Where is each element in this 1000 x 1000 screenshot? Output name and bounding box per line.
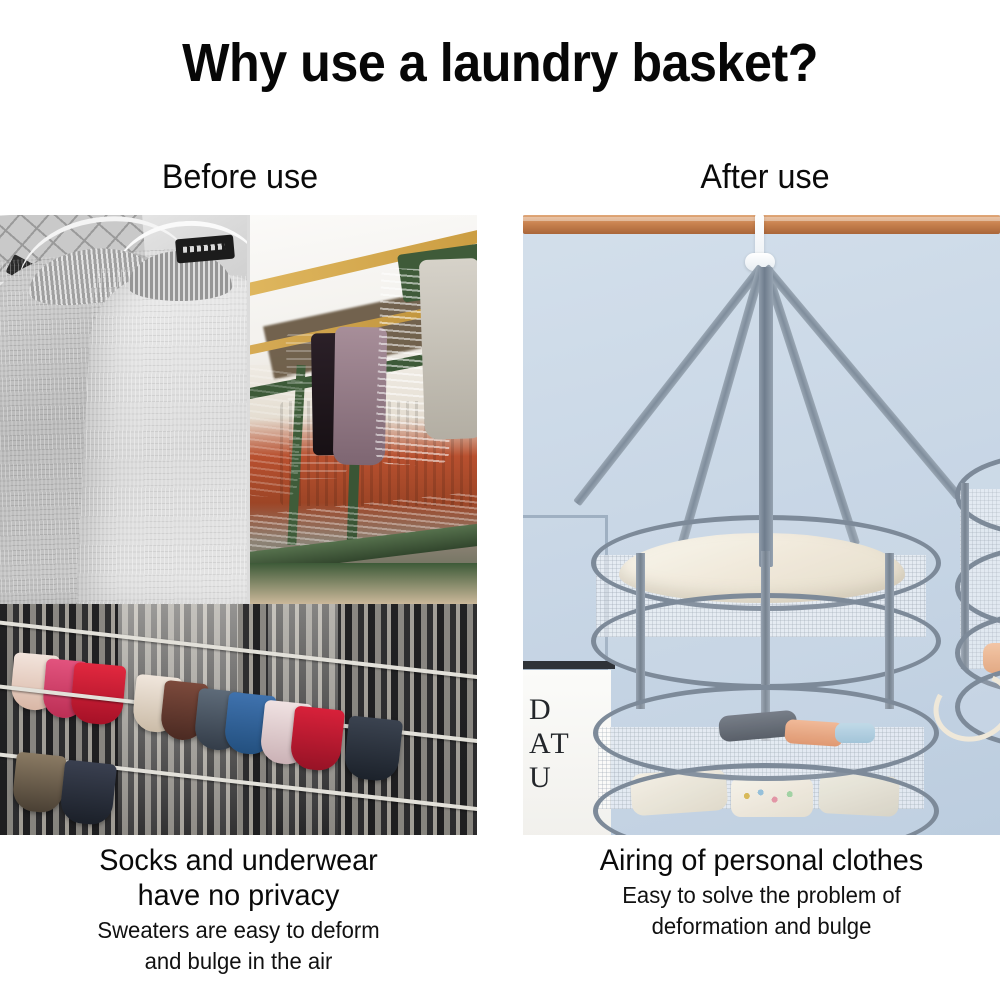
after-caption-sub-line2: deformation and bulge — [533, 912, 991, 940]
after-caption-headline-line1: Airing of personal clothes — [533, 843, 991, 878]
after-use-photo-panel: DATU — [523, 215, 1000, 835]
before-use-caption: Socks and underwear have no privacy Swea… — [0, 843, 477, 975]
photo-balcony-drying-rack — [250, 215, 477, 604]
before-caption-sub-line2: and bulge in the air — [10, 947, 468, 975]
basket-post-left — [636, 553, 645, 709]
hanging-cloth-5 — [419, 258, 477, 440]
photo-underwear-on-railing — [0, 604, 477, 835]
after-use-caption: Airing of personal clothes Easy to solve… — [523, 843, 1000, 940]
rack-lower-area — [250, 563, 477, 604]
secondary-drying-basket — [955, 453, 1000, 793]
photo-grayscale-sweaters — [0, 215, 247, 604]
knit-texture-right — [75, 268, 247, 604]
basket-post-right — [885, 553, 894, 709]
poster-top-bar — [523, 661, 615, 669]
suspension-strap-center — [759, 267, 773, 567]
column-heading-before: Before use — [69, 156, 411, 198]
infographic-page: Why use a laundry basket? Before use Aft… — [0, 0, 1000, 1000]
before-caption-sub-line1: Sweaters are easy to deform — [10, 916, 468, 944]
page-title: Why use a laundry basket? — [35, 32, 965, 94]
sweater-body-right — [75, 268, 247, 604]
garment-brand-label — [175, 235, 235, 264]
before-use-photo-panel — [0, 215, 477, 835]
before-caption-headline-line2: have no privacy — [10, 878, 468, 913]
before-caption-headline-line1: Socks and underwear — [10, 843, 468, 878]
column-heading-after: After use — [594, 156, 936, 198]
after-caption-sub-line1: Easy to solve the problem of — [533, 881, 991, 909]
